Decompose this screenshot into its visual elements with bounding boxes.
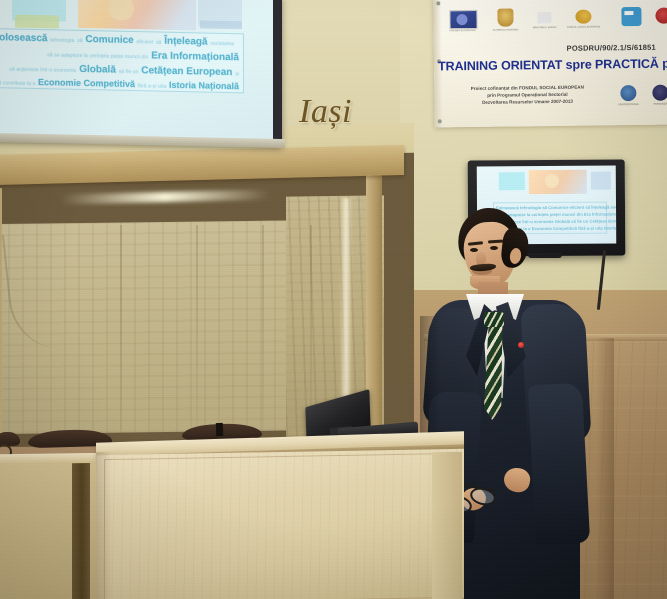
banner-subtitle: Proiect cofinanțat din FONDUL SOCIAL EUR… <box>448 83 606 106</box>
banner-project-code: POSDRU/90/2.1/S/61851 <box>434 43 656 55</box>
slide-subtext: societatea <box>210 41 234 47</box>
slide-line-2: să se adapteze la cerințele pieței munci… <box>0 47 239 63</box>
slide-text-box: Folosească tehnologia să Comunice eficie… <box>0 28 244 93</box>
slide-subtext: să <box>156 40 161 46</box>
slide-subtext: să contribuie la o <box>0 80 35 87</box>
podium-panel-inset <box>104 453 458 599</box>
presenter-arm-right <box>528 383 590 546</box>
curtain-fold <box>196 225 198 430</box>
university-seal-icon <box>620 85 636 101</box>
slide-keyword: Globală <box>79 64 116 76</box>
slide-keyword: Istoria Națională <box>169 80 239 91</box>
logo-caption: GUVERNUL ROMÂNIEI <box>489 28 523 31</box>
photo-scene: Folosească tehnologia să Comunice eficie… <box>0 0 667 599</box>
slide-photo-strip <box>12 0 244 32</box>
slide-line-4: să contribuie la o Economie Competitivă … <box>0 76 239 91</box>
banner-grommet <box>438 119 442 123</box>
romania-coat-of-arms-icon <box>497 8 513 26</box>
slide-subtext: să se adapteze la cerințele pieței munci… <box>47 52 148 60</box>
banner-subtitle-line: Dezvoltarea Resurselor Umane 2007-2013 <box>448 98 606 107</box>
project-banner: UNIUNEA EUROPEANĂ GUVERNUL ROMÂNIEI MINI… <box>433 0 667 127</box>
slide-keyword: Comunice <box>85 34 133 46</box>
presenter-lapel-pin <box>518 342 524 348</box>
projection-screen: Folosească tehnologia să Comunice eficie… <box>0 0 273 140</box>
slide-keyword: Cetățean European <box>141 65 232 78</box>
slide-line-1: Folosească tehnologia să Comunice eficie… <box>0 32 234 48</box>
tv-photo-c <box>591 172 611 190</box>
slide-keyword: Era Informațională <box>151 50 239 63</box>
tv-slide-photo-strip <box>499 172 609 197</box>
slide-subtext: fără a-și uita <box>138 83 167 90</box>
curtain-fold <box>310 225 312 430</box>
podium-right-return <box>432 452 462 599</box>
logo-caption: UNIVERSITATEA <box>612 103 646 106</box>
banner-grommet <box>436 1 440 5</box>
tv-photo-face <box>545 174 559 188</box>
curtain-fold <box>262 225 264 430</box>
slide-keyword: Înțeleagă <box>164 36 207 48</box>
slide-subtext: să acționeze într-o economie <box>9 66 76 73</box>
logo-caption: FONDUL SOCIAL EUROPEAN <box>567 25 601 28</box>
tv-photo-a <box>499 172 525 190</box>
desk-panel-gap <box>72 462 90 599</box>
amposdru-logo-icon <box>621 7 641 26</box>
oiposdru-logo-icon <box>655 8 667 24</box>
slide-subtext: și <box>235 71 239 77</box>
banner-title: TRAINING ORIENTAT spre PRACTICĂ prin FIR… <box>438 56 667 73</box>
chair-strap <box>216 423 223 436</box>
slide-subtext: tehnologia <box>50 37 74 44</box>
slide-photo-b <box>15 15 59 29</box>
logo-caption: UNIUNEA EUROPEANĂ <box>446 29 480 32</box>
eu-flag-logo-icon <box>449 10 477 29</box>
slide-keyword: Folosească <box>0 32 47 44</box>
slide-subtext: să fie un <box>119 69 139 75</box>
slide-keyword: Economie Competitivă <box>38 77 135 89</box>
banner-logo-row: UNIUNEA EUROPEANĂ GUVERNUL ROMÂNIEI MINI… <box>449 5 667 36</box>
logo-caption: MINISTERUL MUNCII <box>528 26 562 29</box>
fse-logo-icon <box>575 10 591 24</box>
partner-seal-icon <box>652 85 667 101</box>
slide-line-3: să acționeze într-o economie Globală să … <box>0 62 239 78</box>
curtain-fold <box>120 225 122 430</box>
presenter-eye <box>490 246 498 250</box>
window-left-jamb <box>0 188 2 438</box>
slide-photo-e <box>200 20 242 29</box>
presenter-tie-knot <box>484 312 504 327</box>
logo-caption: PARTENER <box>644 102 667 105</box>
podium-left-shadow <box>96 452 112 599</box>
slide-subtext: eficient <box>137 39 154 45</box>
slide-photo-c <box>78 0 196 30</box>
slide-subtext: să <box>77 38 82 44</box>
iasi-wall-sign: Iași <box>299 93 352 131</box>
ministry-logo-icon <box>537 12 551 23</box>
presenter-eye <box>470 248 478 252</box>
